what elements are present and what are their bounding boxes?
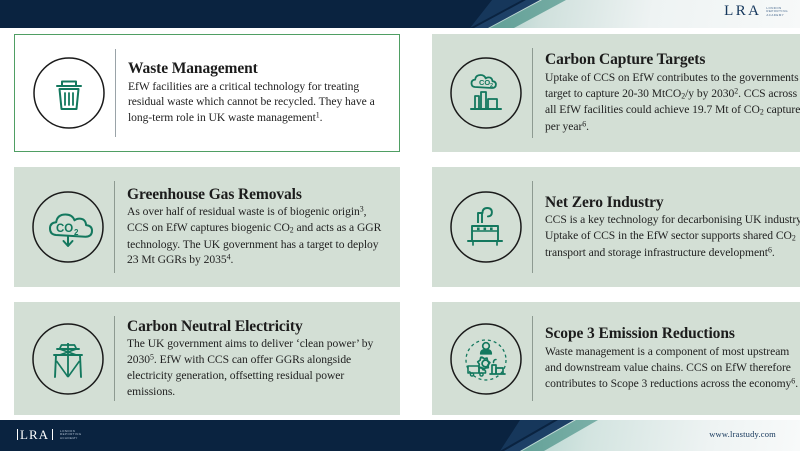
svg-text:2: 2 bbox=[490, 83, 493, 89]
card-divider bbox=[114, 181, 115, 273]
brand-logo-footer[interactable]: LRA LONDON REPORTING ACADEMY bbox=[14, 428, 82, 441]
footer-website-url[interactable]: www.lrastudy.com bbox=[709, 429, 776, 439]
brand-logo-subtitle: LONDON REPORTING ACADEMY bbox=[766, 6, 788, 16]
co2-cloud-factory-icon: CO 2 bbox=[440, 55, 532, 131]
card-carbon-capture-targets[interactable]: CO 2 Carbon Capture Targets Uptake of CC… bbox=[432, 34, 800, 152]
card-scope-3-emission-reductions[interactable]: Scope 3 Emission Reductions Waste manage… bbox=[432, 302, 800, 415]
brand-subtitle-footer-line-3: ACADEMY bbox=[60, 437, 82, 440]
card-carbon-neutral-electricity[interactable]: Carbon Neutral Electricity The UK govern… bbox=[14, 302, 400, 415]
svg-text:2: 2 bbox=[74, 228, 79, 237]
card-body: Waste Management EfW facilities are a cr… bbox=[128, 60, 389, 126]
svg-text:CO: CO bbox=[479, 78, 490, 87]
card-divider bbox=[532, 316, 533, 401]
card-waste-management[interactable]: Waste Management EfW facilities are a cr… bbox=[14, 34, 400, 152]
pylon-icon bbox=[22, 321, 114, 397]
card-divider bbox=[115, 49, 116, 137]
card-description: Waste management is a component of most … bbox=[545, 344, 800, 391]
card-title: Waste Management bbox=[128, 60, 389, 78]
card-title: Net Zero Industry bbox=[545, 194, 800, 212]
brand-subtitle-line-3: ACADEMY bbox=[766, 14, 788, 17]
card-description: The UK government aims to deliver ‘clean… bbox=[127, 336, 390, 399]
card-divider bbox=[532, 48, 533, 138]
card-body: Net Zero Industry CCS is a key technolog… bbox=[545, 194, 800, 261]
card-description: Uptake of CCS on EfW contributes to the … bbox=[545, 70, 800, 135]
card-body: Carbon Capture Targets Uptake of CCS on … bbox=[545, 51, 800, 134]
card-title: Scope 3 Emission Reductions bbox=[545, 325, 800, 343]
benefits-card-grid: Waste Management EfW facilities are a cr… bbox=[0, 28, 800, 420]
page-footer: LRA LONDON REPORTING ACADEMY www.lrastud… bbox=[0, 420, 800, 451]
card-net-zero-industry[interactable]: Net Zero Industry CCS is a key technolog… bbox=[432, 167, 800, 287]
brand-logo-subtitle-footer: LONDON REPORTING ACADEMY bbox=[60, 429, 82, 439]
card-greenhouse-gas-removals[interactable]: CO 2 Greenhouse Gas Removals As over hal… bbox=[14, 167, 400, 287]
factory-icon bbox=[440, 189, 532, 265]
card-divider bbox=[532, 181, 533, 273]
svg-text:CO: CO bbox=[56, 223, 73, 235]
card-title: Greenhouse Gas Removals bbox=[127, 186, 390, 204]
trash-bin-icon bbox=[23, 55, 115, 131]
card-divider bbox=[114, 316, 115, 401]
card-body: Scope 3 Emission Reductions Waste manage… bbox=[545, 325, 800, 391]
card-description: As over half of residual waste is of bio… bbox=[127, 204, 390, 268]
card-body: Greenhouse Gas Removals As over half of … bbox=[127, 186, 390, 269]
brand-logo-mark-footer-text: LRA bbox=[20, 428, 49, 441]
brand-logo-mark-footer: LRA bbox=[14, 428, 55, 441]
card-description: EfW facilities are a critical technology… bbox=[128, 79, 389, 126]
card-title: Carbon Neutral Electricity bbox=[127, 318, 390, 336]
page-header: LRA LONDON REPORTING ACADEMY bbox=[0, 0, 800, 28]
card-title: Carbon Capture Targets bbox=[545, 51, 800, 69]
card-body: Carbon Neutral Electricity The UK govern… bbox=[127, 318, 390, 400]
brand-logo-mark: LRA bbox=[724, 4, 761, 19]
card-description: CCS is a key technology for decarbonisin… bbox=[545, 212, 800, 260]
co2-cloud-downarrow-icon: CO 2 bbox=[22, 189, 114, 265]
brand-logo-header[interactable]: LRA LONDON REPORTING ACADEMY bbox=[724, 4, 788, 19]
value-chain-gear-icon bbox=[440, 321, 532, 397]
